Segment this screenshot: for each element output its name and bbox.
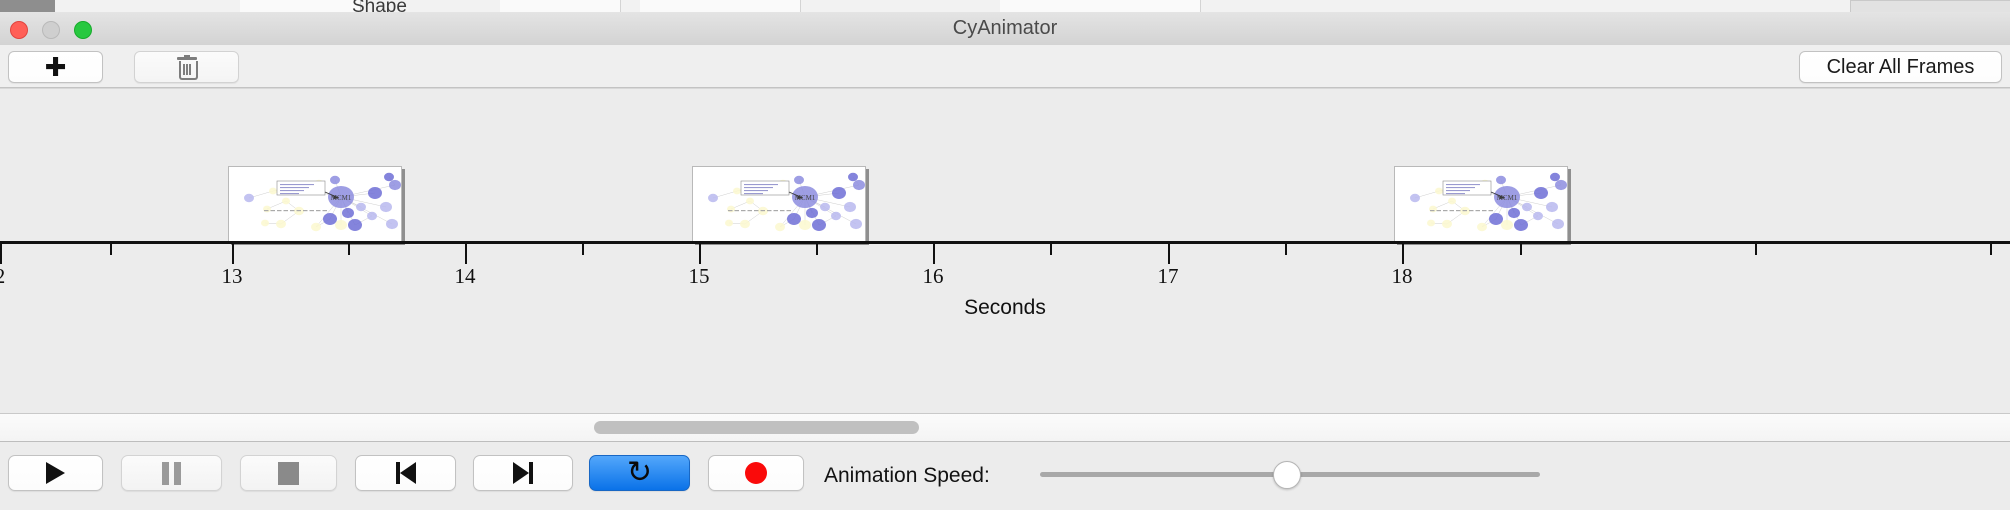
clear-all-frames-button[interactable]: Clear All Frames [1799,51,2002,83]
axis-tick-minor [1050,244,1052,255]
stop-icon [278,462,299,485]
playback-control-bar: ↻ Animation Speed: [0,442,2010,510]
background-segment [1000,0,1201,12]
axis-tick-label: 16 [923,264,944,289]
background-sidebar [0,0,55,12]
loop-button[interactable]: ↻ [589,455,690,491]
cyanimator-window: Shape CyAnimator ✚ Clear All Frames MCM1 [0,0,2010,510]
record-button[interactable] [708,455,804,491]
axis-tick-major [699,244,701,264]
play-button[interactable] [8,455,103,491]
timeline-top-divider [0,88,2010,89]
timeline-frame-thumbnail[interactable]: MCM1 [1394,166,1568,242]
play-icon [46,462,65,484]
axis-title: Seconds [0,296,2010,320]
timeline-panel[interactable]: MCM1MCM1MCM1 2131415161718 Seconds [0,88,2010,414]
timeline-scroll-thumb[interactable] [594,421,919,434]
axis-tick-minor [1520,244,1522,255]
background-segment [240,0,361,12]
add-frame-button[interactable]: ✚ [8,51,103,83]
skip-forward-icon [513,462,533,484]
axis-tick-major [0,244,2,264]
axis-tick-minor [582,244,584,255]
timeline-frame-thumbnail[interactable]: MCM1 [228,166,402,242]
window-title: CyAnimator [0,12,2010,45]
background-segment [500,0,621,12]
loop-icon: ↻ [627,458,652,488]
timeline-scrollbar[interactable] [0,414,2010,442]
axis-tick-minor [348,244,350,255]
axis-tick-label: 15 [689,264,710,289]
axis-tick-minor [110,244,112,255]
skip-back-icon [396,462,416,484]
pause-button[interactable] [121,455,222,491]
axis-tick-major [1168,244,1170,264]
axis-tick-major [933,244,935,264]
delete-frame-button[interactable] [134,51,239,83]
skip-forward-button[interactable] [473,455,573,491]
axis-tick-minor [816,244,818,255]
svg-text:MCM1: MCM1 [795,194,816,202]
axis-tick-label: 14 [455,264,476,289]
skip-back-button[interactable] [355,455,456,491]
timeline-frame-thumbnail[interactable]: MCM1 [692,166,866,242]
stop-button[interactable] [240,455,337,491]
axis-tick-label: 13 [222,264,243,289]
timeline-axis [0,241,2010,244]
svg-text:MCM1: MCM1 [1497,194,1518,202]
axis-tick-minor [1755,244,1757,255]
axis-tick-major [232,244,234,264]
background-segment [640,0,801,12]
axis-tick-label: 18 [1392,264,1413,289]
title-bar: CyAnimator [0,12,2010,46]
axis-tick-label: 17 [1158,264,1179,289]
record-icon [745,462,767,484]
svg-text:MCM1: MCM1 [331,194,352,202]
axis-tick-major [1402,244,1404,264]
trash-icon [177,55,197,79]
axis-tick-minor [1285,244,1287,255]
toolbar: ✚ Clear All Frames [0,45,2010,88]
animation-speed-label: Animation Speed: [824,464,990,488]
pause-icon [162,462,181,485]
axis-tick-minor [1990,244,1992,255]
axis-tick-major [465,244,467,264]
axis-tick-label: 2 [0,264,5,289]
animation-speed-slider-handle[interactable] [1273,461,1301,489]
